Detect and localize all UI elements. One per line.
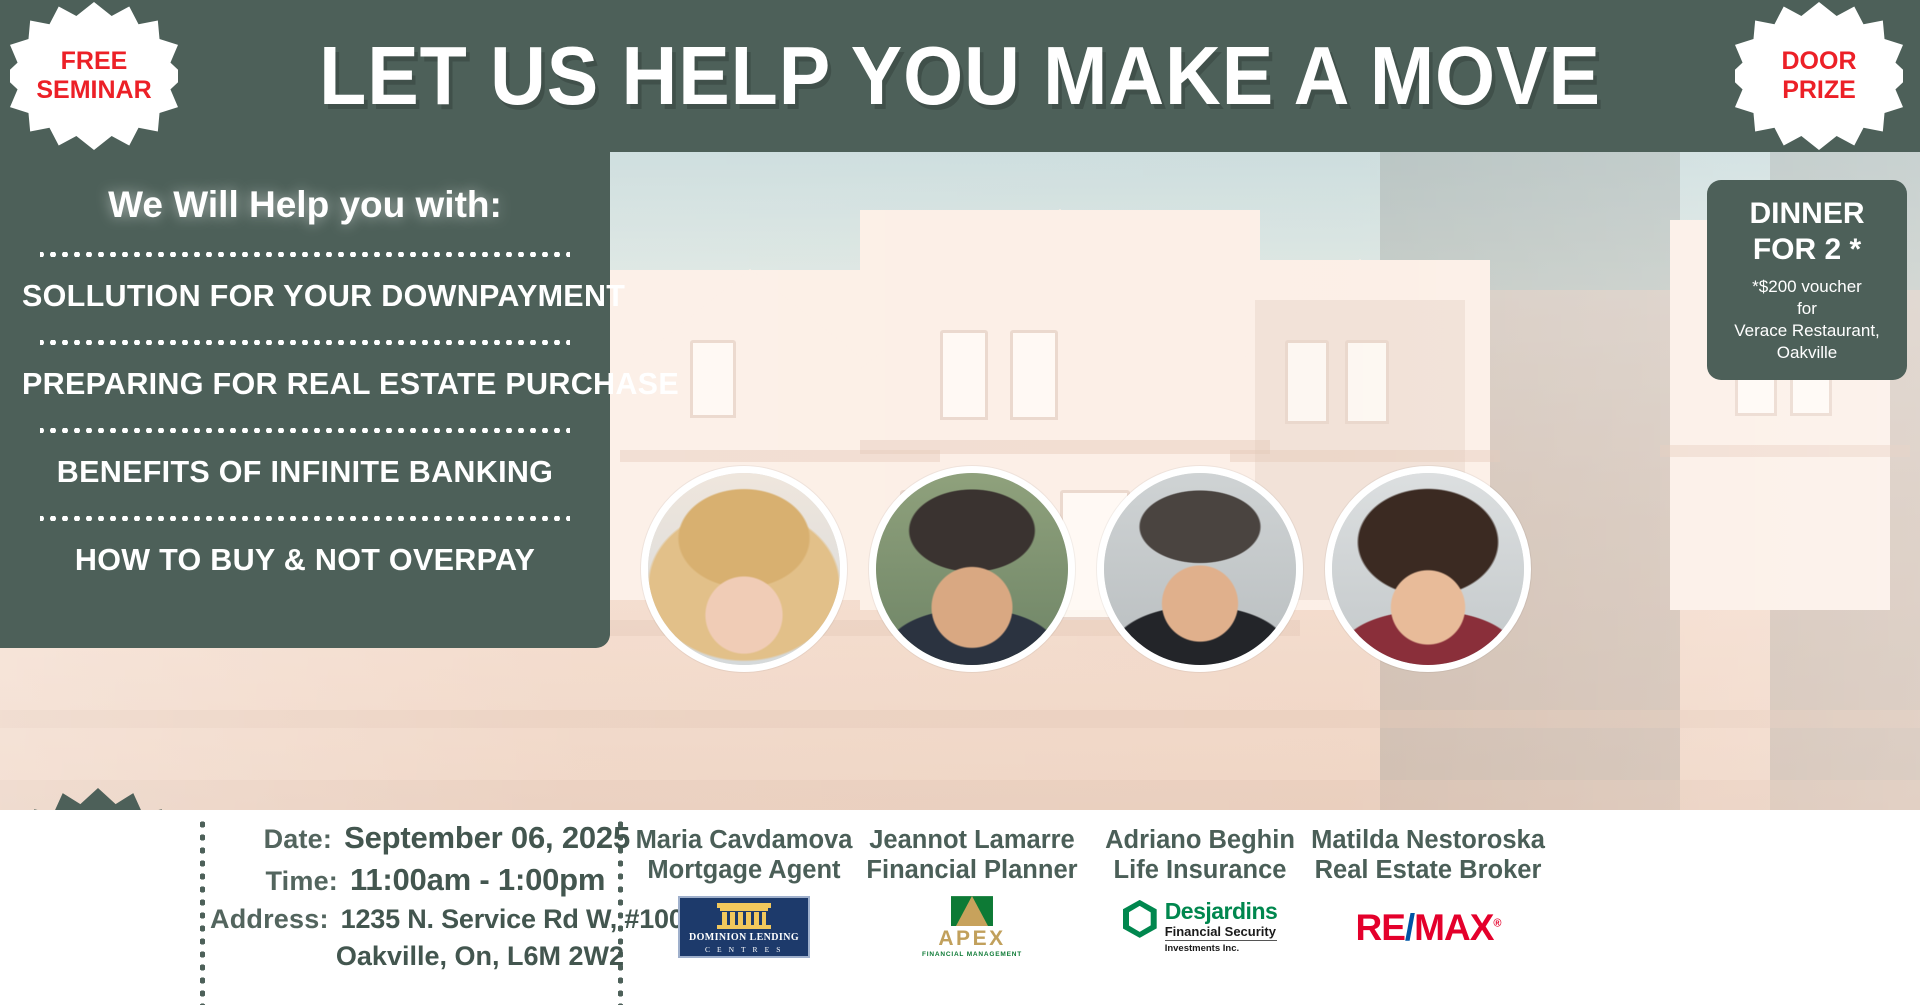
free-seminar-line2: SEMINAR	[36, 76, 151, 106]
remax-logo: RE/MAX®	[1303, 899, 1553, 955]
remax-slash: /	[1405, 907, 1414, 948]
free-seminar-line1: FREE	[61, 47, 128, 77]
temple-icon	[717, 903, 771, 929]
speaker-role-4: Real Estate Broker	[1303, 856, 1553, 886]
avatar	[1332, 473, 1524, 665]
date-value: September 06, 2025	[344, 820, 630, 856]
address-line2: Oakville, On, L6M 2W2	[210, 941, 630, 972]
benefit-item-1: SOLLUTION FOR YOUR DOWNPAYMENT	[22, 279, 588, 314]
event-details: Date: September 06, 2025 Time: 11:00am -…	[210, 820, 630, 978]
dinner-note4: Oakville	[1715, 342, 1899, 364]
speaker-role-1: Mortgage Agent	[619, 856, 869, 886]
header-band: LET US HELP YOU MAKE A MOVE	[0, 0, 1920, 152]
page-title: LET US HELP YOU MAKE A MOVE	[67, 0, 1853, 152]
divider-vertical-1	[200, 818, 205, 1005]
detail-row-address: Address: 1235 N. Service Rd W, #100	[210, 904, 630, 935]
dinner-note3: Verace Restaurant,	[1715, 320, 1899, 342]
speaker-card-2: Jeannot Lamarre Financial Planner APEX F…	[847, 826, 1097, 955]
apex-logo-subtitle: FINANCIAL MANAGEMENT	[922, 951, 1022, 958]
desjardins-logo-subtitle: Financial Security	[1165, 924, 1278, 942]
speaker-name-4: Matilda Nestoroska	[1303, 826, 1553, 856]
dlc-logo-title: DOMINION LENDING	[689, 932, 799, 943]
dominion-lending-centres-logo: DOMINION LENDING C E N T R E S	[619, 899, 869, 955]
benefits-panel-title: We Will Help you with:	[22, 184, 588, 226]
divider-dotted-4	[40, 516, 570, 521]
time-value: 11:00am - 1:00pm	[350, 862, 605, 898]
benefit-item-2: PREPARING FOR REAL ESTATE PURCHASE	[22, 367, 588, 402]
desjardins-logo-title: Desjardins	[1165, 900, 1278, 923]
door-prize-line1: DOOR	[1782, 47, 1857, 77]
avatar	[648, 473, 840, 665]
dinner-note2: for	[1715, 298, 1899, 320]
free-seminar-badge: FREE SEMINAR	[10, 2, 178, 150]
dlc-logo-subtitle: C E N T R E S	[705, 945, 783, 954]
headshot-adriano-beghin	[1097, 466, 1303, 672]
benefits-panel: We Will Help you with: SOLLUTION FOR YOU…	[0, 130, 610, 648]
speaker-role-3: Life Insurance	[1075, 856, 1325, 886]
benefit-item-4: HOW TO BUY & NOT OVERPAY	[22, 543, 588, 578]
apex-financial-management-logo: APEX FINANCIAL MANAGEMENT	[847, 899, 1097, 955]
divider-dotted-2	[40, 340, 570, 345]
detail-row-time: Time: 11:00am - 1:00pm	[210, 862, 630, 898]
seminar-flyer: LET US HELP YOU MAKE A MOVE FREE SEMINAR…	[0, 0, 1920, 1005]
detail-row-address-2: Oakville, On, L6M 2W2	[210, 941, 630, 972]
speaker-name-3: Adriano Beghin	[1075, 826, 1325, 856]
divider-dotted-1	[40, 252, 570, 257]
dinner-prize-box: DINNER FOR 2 * *$200 voucher for Verace …	[1707, 180, 1907, 380]
avatar	[876, 473, 1068, 665]
headshot-maria-cavdamova	[641, 466, 847, 672]
dinner-line1: DINNER	[1715, 196, 1899, 232]
remax-registered-icon: ®	[1493, 917, 1500, 929]
date-label: Date:	[210, 824, 344, 855]
speaker-role-2: Financial Planner	[847, 856, 1097, 886]
hexagon-icon	[1123, 900, 1157, 938]
desjardins-logo-subtitle2: Investments Inc.	[1165, 943, 1278, 954]
address-label: Address:	[210, 904, 341, 935]
time-label: Time:	[210, 866, 350, 897]
avatar	[1104, 473, 1296, 665]
remax-part1: RE	[1355, 907, 1404, 948]
benefit-item-3: BENEFITS OF INFINITE BANKING	[22, 455, 588, 490]
detail-row-date: Date: September 06, 2025	[210, 820, 630, 856]
apex-logo-title: APEX	[938, 928, 1005, 949]
speaker-name-1: Maria Cavdamova	[619, 826, 869, 856]
door-prize-line2: PRIZE	[1782, 76, 1856, 106]
speaker-card-3: Adriano Beghin Life Insurance Desjardins…	[1075, 826, 1325, 955]
speaker-card-1: Maria Cavdamova Mortgage Agent DOMINION …	[619, 826, 869, 955]
dinner-note1: *$200 voucher	[1715, 276, 1899, 298]
divider-dotted-3	[40, 428, 570, 433]
speaker-card-4: Matilda Nestoroska Real Estate Broker RE…	[1303, 826, 1553, 955]
desjardins-logo: Desjardins Financial Security Investment…	[1075, 899, 1325, 955]
apex-triangle-icon	[951, 896, 993, 926]
door-prize-badge: DOOR PRIZE	[1735, 2, 1903, 150]
remax-part2: MAX	[1414, 907, 1493, 948]
headshot-jeannot-lamarre	[869, 466, 1075, 672]
headshot-matilda-nestoroska	[1325, 466, 1531, 672]
dinner-line2: FOR 2 *	[1715, 232, 1899, 268]
speaker-name-2: Jeannot Lamarre	[847, 826, 1097, 856]
